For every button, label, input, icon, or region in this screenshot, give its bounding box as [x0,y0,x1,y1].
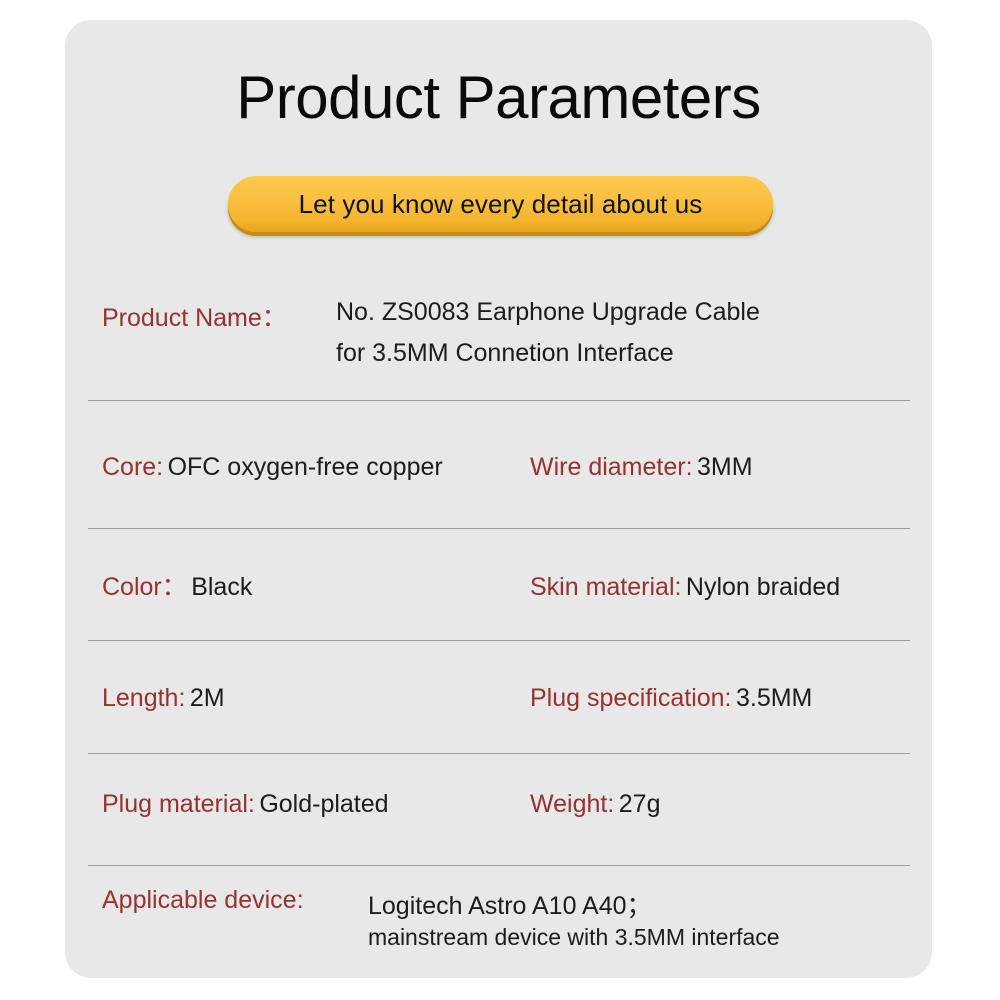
field-wire-diameter: Wire diameter: 3MM [530,452,753,482]
label-wire-diameter: Wire diameter: [530,453,693,481]
field-length: Length: 2M [102,683,225,713]
label-plug-specification: Plug specification: [530,684,732,712]
table-row-applicable-device: Applicable device: Logitech Astro A10 A4… [88,886,910,966]
label-core: Core: [102,453,163,481]
value-product-name-line2: for 3.5MM Connetion Interface [336,339,674,368]
spec-rows: Product Name： No. ZS0083 Earphone Upgrad… [65,20,932,978]
table-row-length: Length: 2M Plug specification: 3.5MM [88,683,910,727]
table-row-core: Core: OFC oxygen-free copper Wire diamet… [88,452,910,496]
row-divider-4 [88,753,910,754]
value-weight: 27g [619,790,661,818]
value-product-name-line1: No. ZS0083 Earphone Upgrade Cable [336,298,760,327]
label-color: Color： [102,573,187,601]
table-row-product-name: Product Name： No. ZS0083 Earphone Upgrad… [88,286,910,380]
label-length: Length: [102,684,185,712]
value-skin-material: Nylon braided [686,573,840,601]
row-divider-5 [88,865,910,866]
field-core: Core: OFC oxygen-free copper [102,452,443,482]
field-color: Color： Black [102,572,252,602]
row-divider-3 [88,640,910,641]
field-skin-material: Skin material: Nylon braided [530,572,840,602]
value-color: Black [191,573,252,601]
value-applicable-device-line1: Logitech Astro A10 A40； [368,886,652,922]
label-product-name: Product Name： [102,298,287,334]
spec-card: Product Parameters Let you know every de… [65,20,932,978]
value-plug-material: Gold-plated [259,790,388,818]
row-divider-2 [88,528,910,529]
field-weight: Weight: 27g [530,789,660,819]
value-core: OFC oxygen-free copper [168,453,443,481]
table-row-color: Color： Black Skin material: Nylon braide… [88,572,910,616]
label-plug-material: Plug material: [102,790,255,818]
value-length: 2M [190,684,225,712]
label-skin-material: Skin material: [530,573,681,601]
value-plug-specification: 3.5MM [736,684,812,712]
value-wire-diameter: 3MM [697,453,753,481]
label-weight: Weight: [530,790,614,818]
field-plug-material: Plug material: Gold-plated [102,789,389,819]
table-row-plug-material: Plug material: Gold-plated Weight: 27g [88,789,910,833]
value-applicable-device-line2: mainstream device with 3.5MM interface [368,924,780,951]
field-plug-specification: Plug specification: 3.5MM [530,683,812,713]
product-parameters-page: Product Parameters Let you know every de… [0,0,1000,1000]
row-divider-1 [88,400,910,401]
label-applicable-device: Applicable device: [102,886,304,915]
